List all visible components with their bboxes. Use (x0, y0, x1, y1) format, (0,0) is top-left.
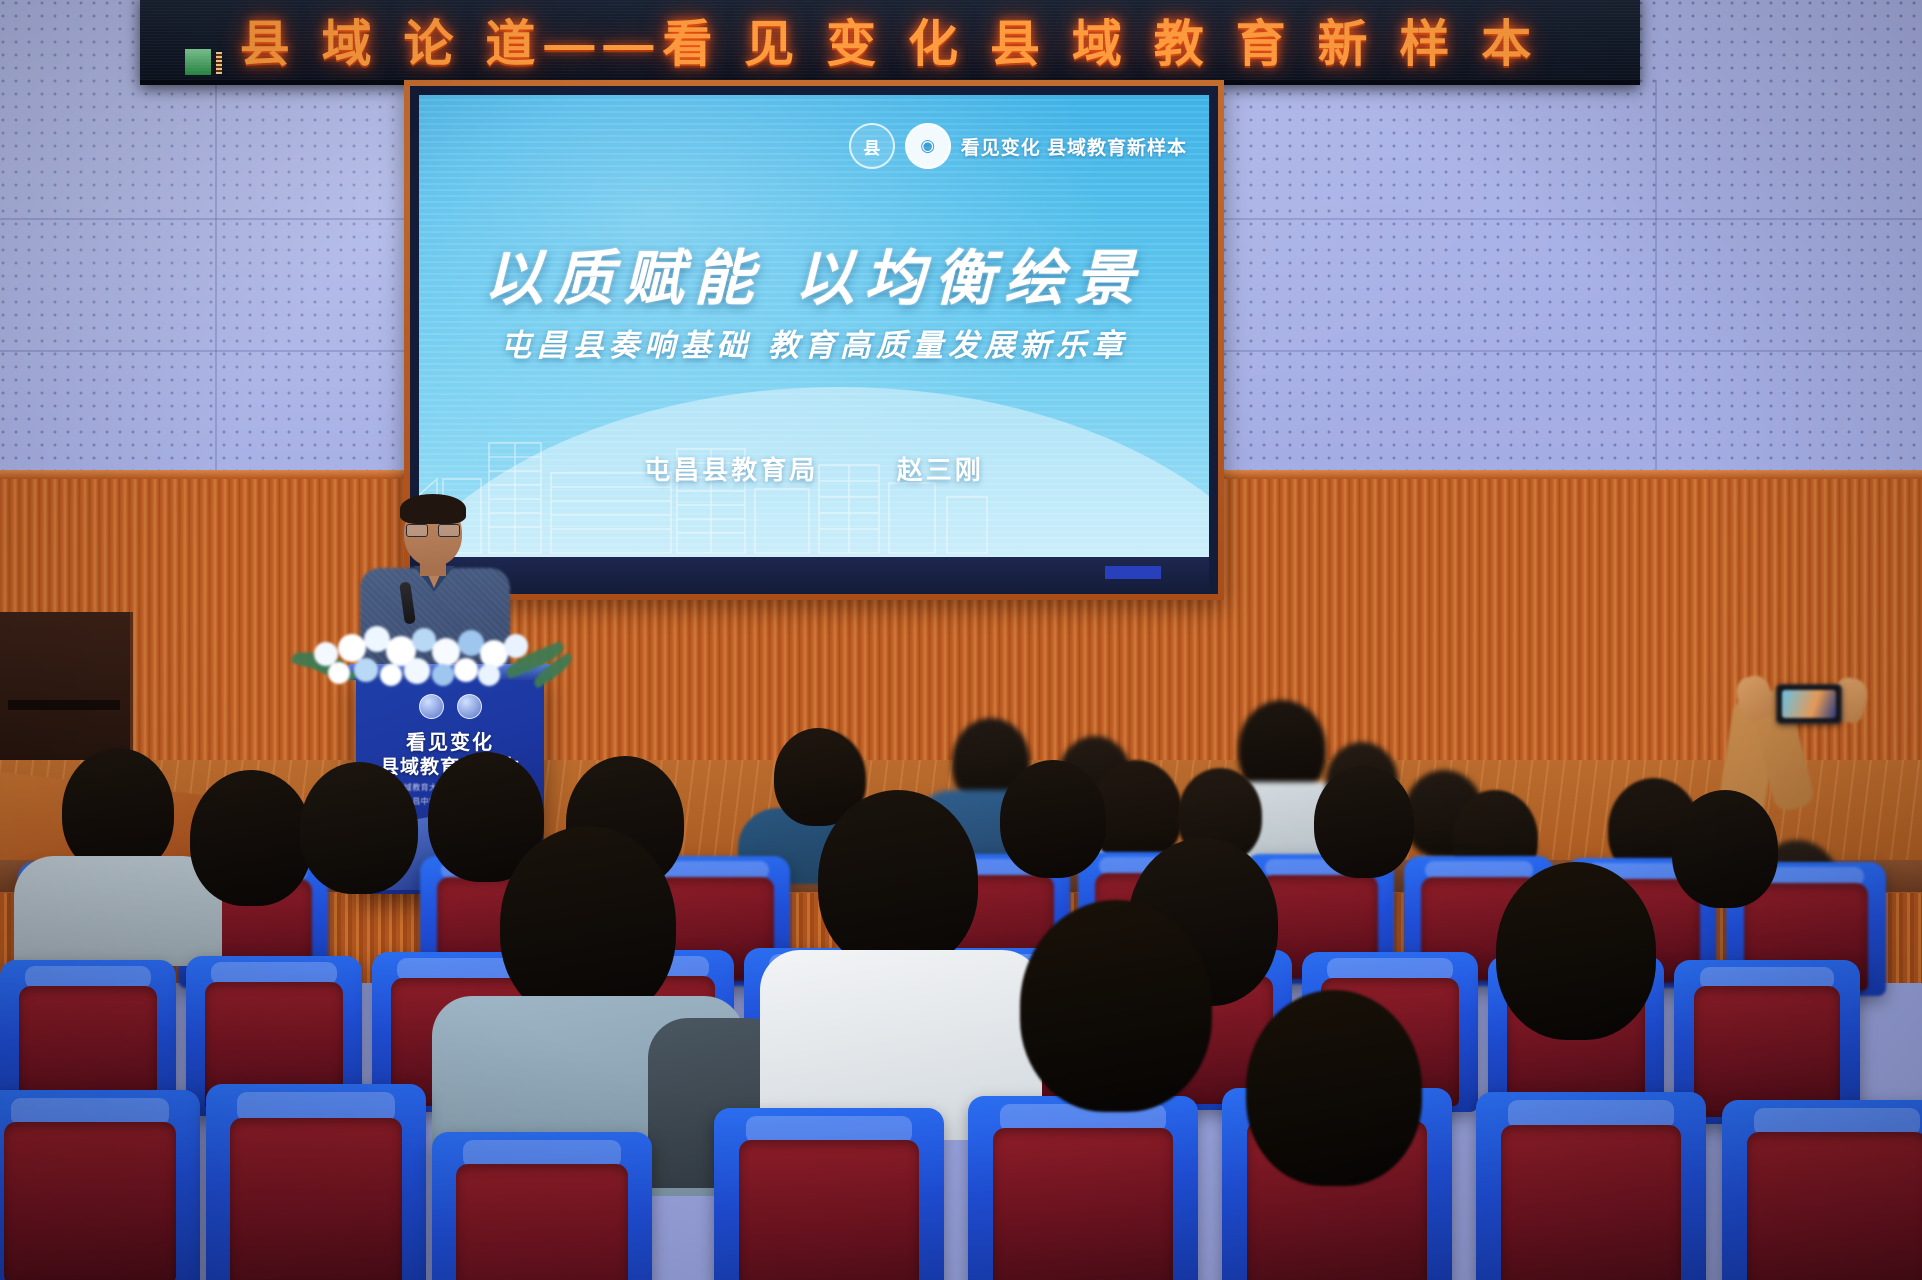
audience-head-front (1496, 862, 1656, 1040)
podium-headline: 看见变化 (356, 726, 544, 755)
slide-swoosh-shape (419, 387, 1209, 557)
phone-screen (1782, 690, 1836, 718)
slide-byline: 屯昌县教育局 赵三刚 (419, 450, 1209, 487)
screen-lower-bezel (419, 557, 1209, 594)
flower-arrangement (298, 608, 556, 688)
slide-skyline-graphic (419, 387, 1209, 557)
eyeglasses-icon (406, 524, 460, 535)
seat[interactable] (1722, 1100, 1922, 1280)
slide-byline-name: 赵三刚 (897, 450, 984, 487)
county-emblem-icon: 县 (849, 123, 895, 169)
audience-head-front (818, 790, 978, 970)
wall-seam-vertical (1655, 80, 1657, 475)
audience-head (1000, 760, 1106, 878)
screen-status-chip (1105, 566, 1161, 579)
led-indicator-green (185, 49, 211, 75)
screen-glare (419, 95, 1209, 557)
audience-head (1672, 790, 1778, 908)
seat[interactable] (432, 1132, 652, 1280)
podium-layers-emblem-icon (457, 694, 482, 719)
audience-head (190, 770, 312, 906)
slide-byline-org: 屯昌县教育局 (644, 450, 818, 487)
slide-logo-group: 县 ◉ 看见变化 县域教育新样本 (849, 123, 1187, 169)
audience-head-foreground (1020, 900, 1212, 1112)
slide-title: 以质赋能 以均衡绘景 (419, 230, 1209, 317)
speaker-hair (400, 494, 466, 524)
seat[interactable] (0, 1090, 200, 1280)
seat[interactable] (206, 1084, 426, 1280)
audience-head (300, 762, 418, 894)
smartphone-icon (1776, 684, 1842, 724)
layers-emblem-icon: ◉ (905, 123, 951, 169)
led-banner: 县 域 论 道——看 见 变 化 县 域 教 育 新 样 本 (140, 0, 1640, 85)
auditorium-scene: 县 域 论 道——看 见 变 化 县 域 教 育 新 样 本 (0, 0, 1922, 1280)
side-panel-handle (8, 700, 120, 710)
slide-logo-text: 看见变化 县域教育新样本 (961, 133, 1187, 160)
seat[interactable] (968, 1096, 1198, 1280)
seat[interactable] (1476, 1092, 1706, 1280)
audience-head (1314, 766, 1414, 878)
audience-head-foreground (1246, 990, 1422, 1186)
led-indicator-strip (216, 52, 222, 74)
projection-screen: 县 ◉ 看见变化 县域教育新样本 以质赋能 以均衡绘景 屯昌县奏响基础 教育高质… (419, 95, 1209, 557)
audience-head-front (500, 826, 676, 1022)
slide-subtitle: 屯昌县奏响基础 教育高质量发展新乐章 (419, 320, 1209, 365)
seat[interactable] (714, 1108, 944, 1280)
podium-emblem-group (356, 694, 544, 719)
podium-county-emblem-icon (419, 694, 444, 719)
wall-seam-vertical (215, 80, 217, 475)
skyline-buildings-outline (419, 387, 1209, 557)
led-banner-text: 县 域 论 道——看 见 变 化 县 域 教 育 新 样 本 (140, 4, 1640, 76)
